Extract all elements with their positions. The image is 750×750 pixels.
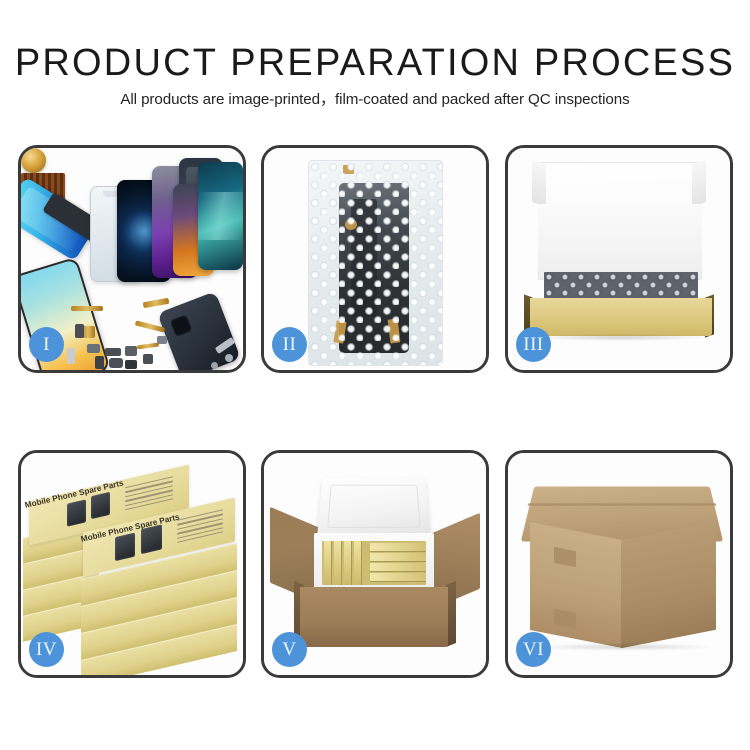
foam-box-packing-photo: III [508,148,730,370]
box-front-panel [530,298,712,336]
boxes-stacked-photo: Mobile Phone Spare Parts Mobile Phone Sp… [21,453,243,675]
process-step-grid: I II III [18,145,733,678]
small-component-part [125,346,137,356]
small-component-part [109,358,123,368]
small-component-part [105,348,121,356]
phone-teal-display [198,162,243,270]
process-step-panel-1: I [18,145,246,373]
process-step-panel-6: VI [505,450,733,678]
small-component-part [143,354,153,364]
small-component-part [157,336,167,344]
carton-top-seam [528,503,717,505]
step-badge-6: VI [516,632,551,667]
foam-box-lid [317,478,431,538]
box-lid-flap-left [532,160,546,206]
product-assortment-photo: I [21,148,243,370]
page-title: PRODUCT PREPARATION PROCESS [0,40,750,86]
small-component-part [67,348,75,364]
process-step-panel-2: II [261,145,489,373]
speaker-coil-part [21,148,46,173]
box-text-lines [125,476,173,513]
process-step-panel-5: V [261,450,489,678]
small-component-part [75,324,84,338]
small-component-part [87,344,100,353]
box-lid-flap-right [692,160,706,206]
drop-shadow [534,334,706,341]
process-step-panel-3: III [505,145,733,373]
page-subtitle: All products are image-printed，film-coat… [0,90,750,110]
carton-front-panel [300,587,448,647]
process-step-panel-4: Mobile Phone Spare Parts Mobile Phone Sp… [18,450,246,678]
carton-loading-photo: V [264,453,486,675]
box-text-lines [177,509,223,546]
yellow-boxes-inside [322,541,426,585]
step-badge-5: V [272,632,307,667]
carton-front-right [621,522,716,648]
bubble-wrap-bag [308,160,443,366]
small-component-part [95,356,104,369]
bubble-texture [309,161,442,365]
drop-shadow [534,643,714,651]
flex-cable-part [137,342,159,349]
carton-front-left [530,522,622,648]
bubble-wrap-packing-photo: II [264,148,486,370]
flex-cable-part [143,298,170,308]
small-component-part [225,354,233,362]
small-component-part [125,360,137,369]
box-window-image [91,492,110,519]
box-window-image [115,533,135,562]
sealed-carton-photo: VI [508,453,730,675]
step-badge-3: III [516,327,551,362]
header: PRODUCT PREPARATION PROCESS All products… [0,0,750,130]
box-window-image [67,499,86,526]
small-component-part [211,362,218,369]
flex-cable-part [71,306,103,311]
step-badge-2: II [272,327,307,362]
step-badge-4: IV [29,632,64,667]
foam-sheet [538,204,702,272]
step-badge-1: I [29,327,64,362]
